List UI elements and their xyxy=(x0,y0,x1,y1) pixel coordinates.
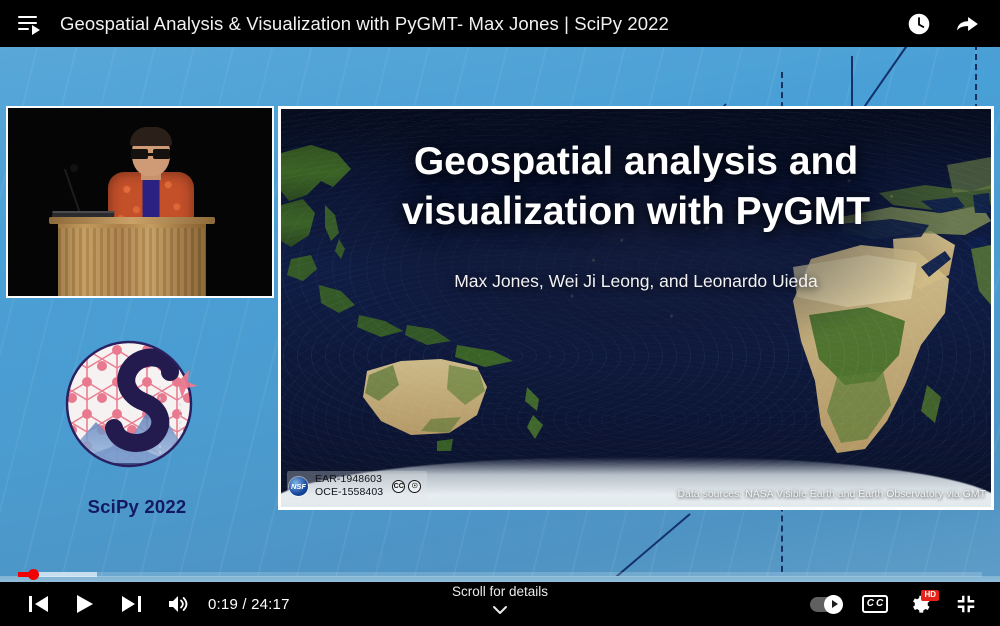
progress-bar-zone[interactable] xyxy=(0,568,1000,582)
speaker-glasses xyxy=(129,149,174,159)
nsf-seal-icon: NSF xyxy=(289,477,308,496)
quality-hd-badge: HD xyxy=(921,590,939,601)
speaker-video-thumbnail[interactable] xyxy=(6,106,274,298)
slide-title: Geospatial analysis and visualization wi… xyxy=(281,137,991,237)
video-player-page: Geospatial Analysis & Visualization with… xyxy=(0,0,1000,626)
settings-button[interactable]: HD xyxy=(908,593,934,615)
share-icon[interactable] xyxy=(954,11,980,37)
chevron-down-icon[interactable] xyxy=(0,603,1000,615)
grant-number-2: OCE-1558403 xyxy=(315,486,383,499)
funding-credits: NSF EAR-1948603 OCE-1558403 CC ☉ xyxy=(287,471,427,501)
playlist-queue-icon[interactable] xyxy=(18,15,40,33)
player-controls-bar: 0:19 / 24:17 Scroll for details CC HD xyxy=(0,582,1000,626)
player-top-bar: Geospatial Analysis & Visualization with… xyxy=(0,0,1000,47)
progress-bar-scrubber[interactable] xyxy=(28,569,39,580)
data-sources-credit: Data sources: NASA Visible Earth and Ear… xyxy=(677,488,986,500)
scipy-logo-block: SciPy 2022 xyxy=(62,338,212,518)
microphone-head xyxy=(70,164,78,172)
watch-later-icon[interactable] xyxy=(906,11,932,37)
presentation-slide[interactable]: Geospatial analysis and visualization wi… xyxy=(278,106,994,510)
podium xyxy=(58,218,206,296)
speaker-hair xyxy=(130,127,172,146)
progress-bar-track[interactable] xyxy=(18,572,982,577)
cc-by-icon: ☉ xyxy=(408,480,421,493)
cc-icon: CC xyxy=(392,480,405,493)
top-actions xyxy=(906,11,980,37)
scipy-logo-icon xyxy=(62,338,212,486)
slide-title-line-1: Geospatial analysis and xyxy=(341,137,931,187)
autoplay-toggle[interactable] xyxy=(810,597,842,612)
scipy-logo-caption: SciPy 2022 xyxy=(62,496,212,518)
grant-number-1: EAR-1948603 xyxy=(315,473,383,486)
creative-commons-badges: CC ☉ xyxy=(392,480,421,493)
slide-title-line-2: visualization with PyGMT xyxy=(341,187,931,237)
slide-authors: Max Jones, Wei Ji Leong, and Leonardo Ui… xyxy=(281,271,991,292)
video-title: Geospatial Analysis & Visualization with… xyxy=(60,13,669,35)
